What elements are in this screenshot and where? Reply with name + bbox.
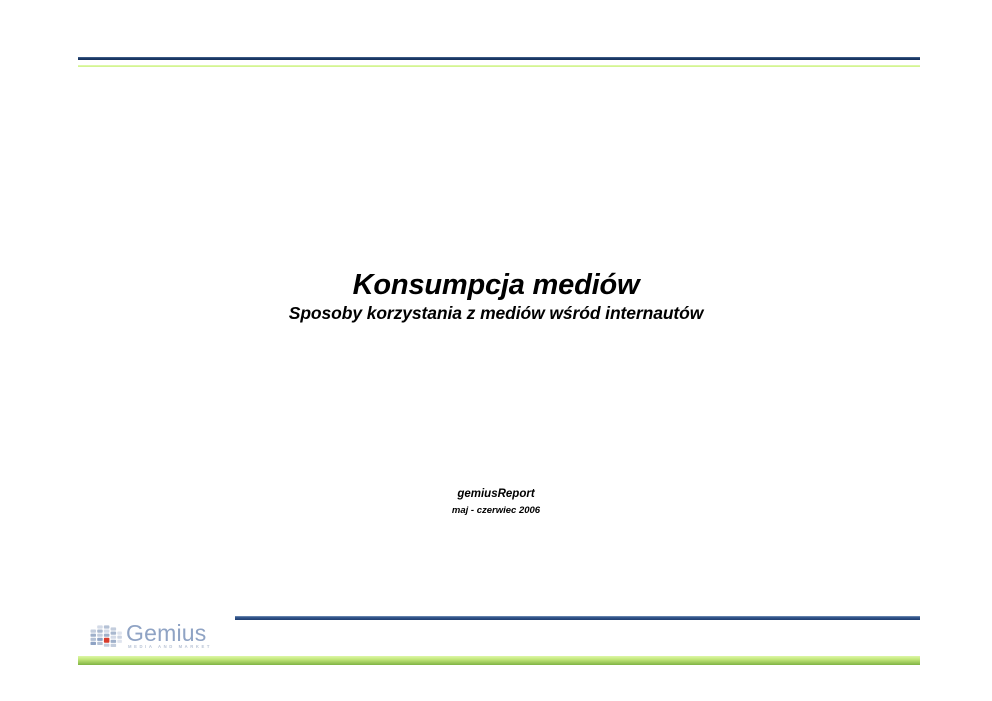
- footer-rule-navy: [235, 616, 920, 620]
- gemius-logo-mark-icon: [90, 623, 123, 649]
- header-rule-navy: [78, 57, 920, 60]
- gemius-wordmark: Gemius: [126, 620, 212, 646]
- gemius-logo-text: Gemius media and market: [126, 620, 212, 650]
- title-block: Konsumpcja mediów Sposoby korzystania z …: [0, 268, 992, 324]
- gemius-logo: Gemius media and market: [90, 620, 212, 654]
- slide-canvas: Konsumpcja mediów Sposoby korzystania z …: [0, 0, 992, 701]
- footer-rule-green-bar: [78, 656, 920, 665]
- page-title: Konsumpcja mediów: [0, 268, 992, 302]
- report-meta-block: gemiusReport maj - czerwiec 2006: [0, 487, 992, 517]
- report-name: gemiusReport: [0, 487, 992, 502]
- gemius-tagline: media and market: [128, 644, 212, 650]
- header-rule-green: [78, 65, 920, 67]
- report-period: maj - czerwiec 2006: [0, 504, 992, 517]
- page-subtitle: Sposoby korzystania z mediów wśród inter…: [0, 303, 992, 324]
